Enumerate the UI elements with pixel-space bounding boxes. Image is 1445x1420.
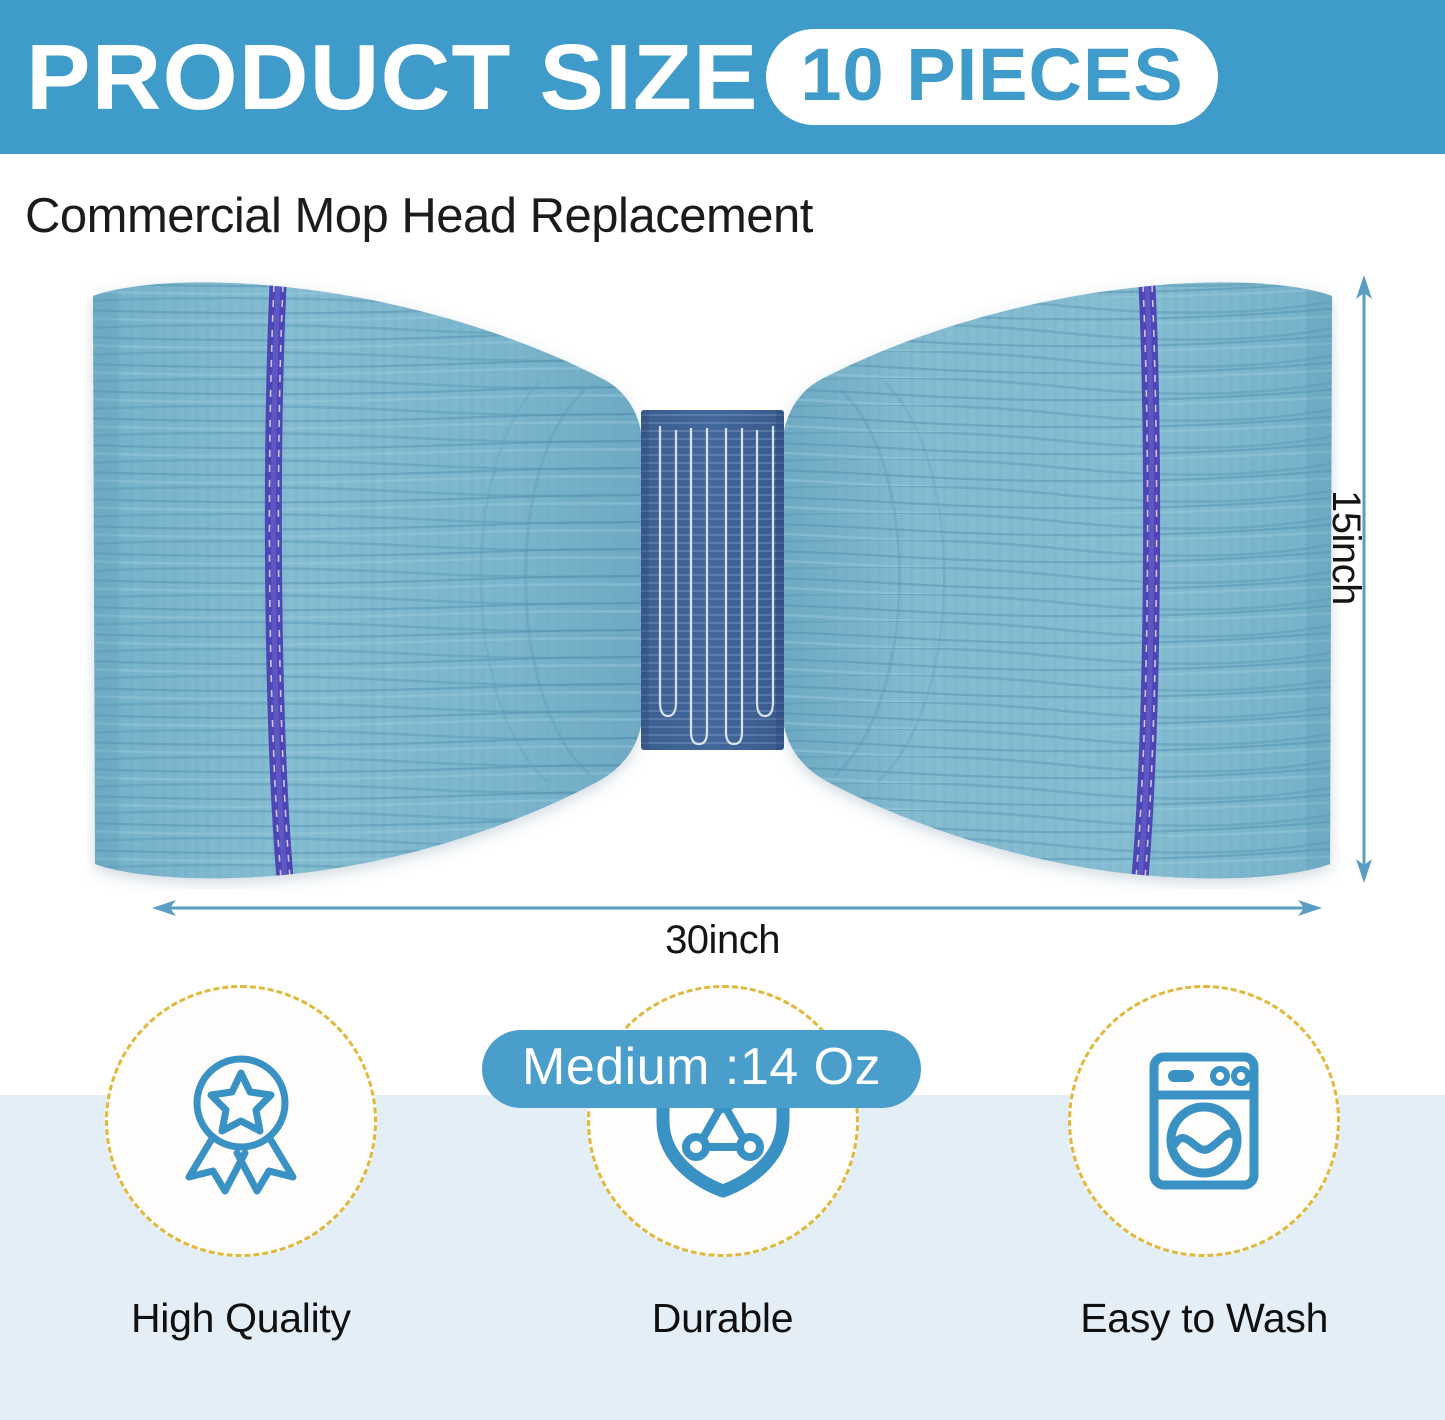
award-ribbon-icon bbox=[161, 1041, 321, 1201]
mop-head-illustration bbox=[85, 270, 1340, 890]
washing-machine-icon bbox=[1124, 1041, 1284, 1201]
pieces-count-badge: 10 PIECES bbox=[766, 29, 1217, 125]
page-title: PRODUCT SIZE bbox=[26, 31, 759, 124]
width-dimension-label: 30inch bbox=[0, 918, 1445, 963]
height-dimension-label: 15inch bbox=[1323, 490, 1368, 605]
size-weight-badge: Medium :14 Oz bbox=[482, 1030, 921, 1108]
feature-label: Easy to Wash bbox=[1080, 1295, 1328, 1342]
product-subtitle: Commercial Mop Head Replacement bbox=[25, 188, 813, 244]
header-bar: PRODUCT SIZE 10 PIECES bbox=[0, 0, 1445, 154]
feature-icon-circle bbox=[587, 985, 859, 1257]
size-weight-label: Medium :14 Oz bbox=[522, 1038, 881, 1096]
feature-label: Durable bbox=[652, 1295, 793, 1342]
width-dimension-arrow bbox=[152, 896, 1322, 920]
feature-label: High Quality bbox=[131, 1295, 351, 1342]
pieces-count-label: 10 PIECES bbox=[800, 38, 1183, 112]
feature-icon-circle bbox=[1068, 985, 1340, 1257]
product-image-stage: Medium :14 Oz bbox=[0, 255, 1445, 955]
feature-high-quality: High Quality bbox=[0, 985, 482, 1420]
feature-icon-circle bbox=[105, 985, 377, 1257]
feature-easy-to-wash: Easy to Wash bbox=[963, 985, 1445, 1420]
